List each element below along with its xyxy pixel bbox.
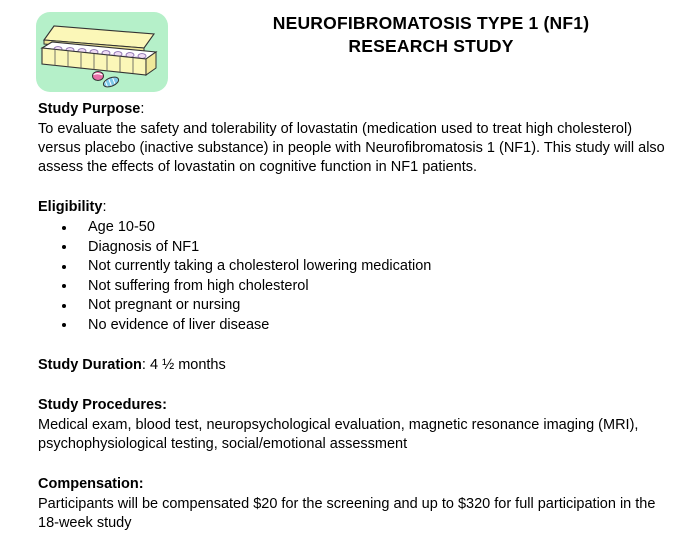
eligibility-item-text: Not suffering from high cholesterol	[88, 278, 309, 294]
section-compensation: Compensation: Participants will be compe…	[38, 475, 678, 533]
section-eligibility: Eligibility: Age 10-50 Diagnosis of NF1 …	[38, 198, 678, 335]
study-purpose-heading-label: Study Purpose	[38, 101, 140, 117]
pill-organizer-icon	[36, 12, 168, 92]
pill-organizer-illustration	[36, 12, 168, 92]
study-purpose-heading: Study Purpose:	[38, 100, 678, 119]
list-item: No evidence of liver disease	[62, 316, 678, 336]
study-procedures-heading: Study Procedures:	[38, 396, 678, 415]
study-flyer-page: NEUROFIBROMATOSIS TYPE 1 (NF1) RESEARCH …	[0, 0, 700, 506]
study-duration-label: Study Duration	[38, 357, 142, 373]
eligibility-item-text: Not currently taking a cholesterol lower…	[88, 258, 431, 274]
eligibility-list: Age 10-50 Diagnosis of NF1 Not currently…	[38, 218, 678, 335]
list-item: Not currently taking a cholesterol lower…	[62, 257, 678, 277]
eligibility-item-text: Diagnosis of NF1	[88, 239, 199, 255]
section-study-purpose: Study Purpose: To evaluate the safety an…	[38, 100, 678, 177]
study-purpose-heading-colon: :	[140, 101, 144, 117]
eligibility-heading: Eligibility:	[38, 198, 678, 217]
bullet-icon	[62, 284, 66, 288]
page-title-line-1: NEUROFIBROMATOSIS TYPE 1 (NF1)	[176, 12, 686, 35]
flyer-body: Study Purpose: To evaluate the safety an…	[38, 100, 678, 545]
eligibility-item-text: Not pregnant or nursing	[88, 297, 240, 313]
eligibility-heading-colon: :	[102, 199, 106, 215]
page-title: NEUROFIBROMATOSIS TYPE 1 (NF1) RESEARCH …	[176, 12, 686, 58]
bullet-icon	[62, 245, 66, 249]
eligibility-heading-label: Eligibility	[38, 199, 102, 215]
study-duration-line: Study Duration: 4 ½ months	[38, 356, 678, 375]
eligibility-item-text: No evidence of liver disease	[88, 317, 269, 333]
section-study-procedures: Study Procedures: Medical exam, blood te…	[38, 396, 678, 454]
spacer-after-purpose	[38, 189, 678, 198]
list-item: Not suffering from high cholesterol	[62, 277, 678, 297]
spacer-after-duration	[38, 387, 678, 396]
page-title-line-2: RESEARCH STUDY	[176, 35, 686, 58]
list-item: Diagnosis of NF1	[62, 238, 678, 258]
list-item: Age 10-50	[62, 218, 678, 238]
study-purpose-text: To evaluate the safety and tolerability …	[38, 120, 678, 177]
flyer-header: NEUROFIBROMATOSIS TYPE 1 (NF1) RESEARCH …	[0, 0, 700, 100]
bullet-icon	[62, 323, 66, 327]
section-study-duration: Study Duration: 4 ½ months	[38, 356, 678, 375]
bullet-icon	[62, 304, 66, 308]
study-duration-value: : 4 ½ months	[142, 357, 226, 373]
spacer-after-procedures	[38, 466, 678, 475]
eligibility-item-text: Age 10-50	[88, 219, 155, 235]
compensation-heading: Compensation:	[38, 475, 678, 494]
bullet-icon	[62, 265, 66, 269]
spacer-after-eligibility	[38, 347, 678, 356]
bullet-icon	[62, 226, 66, 230]
study-procedures-text: Medical exam, blood test, neuropsycholog…	[38, 416, 678, 454]
compensation-text: Participants will be compensated $20 for…	[38, 495, 678, 533]
list-item: Not pregnant or nursing	[62, 296, 678, 316]
